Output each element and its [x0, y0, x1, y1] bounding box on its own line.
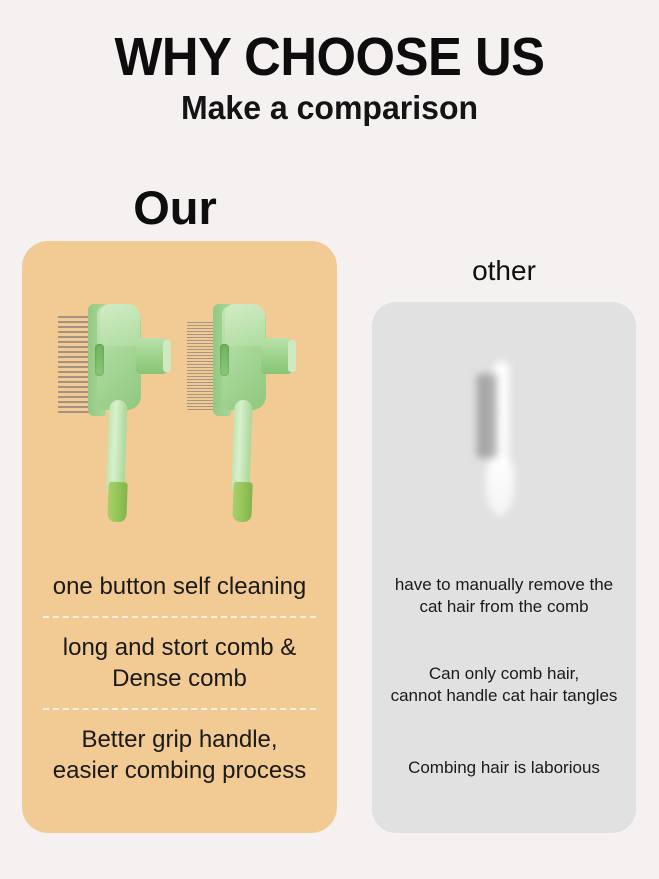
other-column-label: other: [372, 253, 636, 289]
other-feature-line: Can only comb hair,: [376, 663, 632, 685]
other-feature-line: cat hair from the comb: [376, 596, 632, 618]
brush-grip: [232, 482, 252, 523]
other-feature-item: Combing hair is laborious: [376, 757, 632, 779]
brush-head-top: [100, 304, 140, 346]
our-product-image: [22, 296, 337, 571]
header: WHY CHOOSE US Make a comparison: [0, 0, 659, 127]
other-feature-line: Combing hair is laborious: [376, 757, 632, 779]
comb-teeth: [477, 374, 497, 458]
self-cleaning-button-icon: [220, 344, 229, 376]
our-feature-line: Better grip handle,: [38, 724, 321, 755]
feature-separator: [43, 616, 316, 618]
page-title: WHY CHOOSE US: [20, 0, 639, 87]
our-feature-line: Dense comb: [38, 663, 321, 694]
our-feature-list: one button self cleaning long and stort …: [32, 571, 327, 786]
page-subtitle: Make a comparison: [10, 87, 649, 127]
other-product-image: [372, 312, 636, 567]
our-feature-line: easier combing process: [38, 755, 321, 786]
our-feature-line: long and stort comb &: [38, 632, 321, 663]
other-feature-line: have to manually remove the: [376, 574, 632, 596]
brush-handle: [231, 400, 252, 493]
our-column-label: Our: [0, 180, 350, 236]
brush-pins: [58, 316, 92, 414]
pet-brush-dense-comb-icon: [175, 296, 305, 526]
brush-knob-cap: [288, 340, 296, 372]
brush-pins: [187, 322, 214, 410]
brush-knob-cap: [163, 340, 171, 372]
other-feature-item: Can only comb hair, cannot handle cat ha…: [376, 663, 632, 707]
our-feature-item: one button self cleaning: [32, 571, 327, 602]
other-comparison-card: have to manually remove the cat hair fro…: [372, 302, 636, 833]
our-feature-line: one button self cleaning: [38, 571, 321, 602]
self-cleaning-button-icon: [95, 344, 104, 376]
other-feature-item: have to manually remove the cat hair fro…: [376, 574, 632, 618]
our-feature-item: long and stort comb & Dense comb: [32, 632, 327, 694]
brush-head-top: [225, 304, 265, 346]
pet-brush-long-pin-icon: [50, 296, 180, 526]
other-feature-list: have to manually remove the cat hair fro…: [376, 574, 632, 779]
other-feature-line: cannot handle cat hair tangles: [376, 685, 632, 707]
brush-grip: [107, 482, 127, 523]
brush-handle: [106, 400, 127, 493]
comb-flare: [486, 454, 514, 516]
our-feature-item: Better grip handle, easier combing proce…: [32, 724, 327, 786]
feature-separator: [43, 708, 316, 710]
our-comparison-card: one button self cleaning long and stort …: [22, 241, 337, 833]
plain-comb-icon: [472, 362, 532, 517]
